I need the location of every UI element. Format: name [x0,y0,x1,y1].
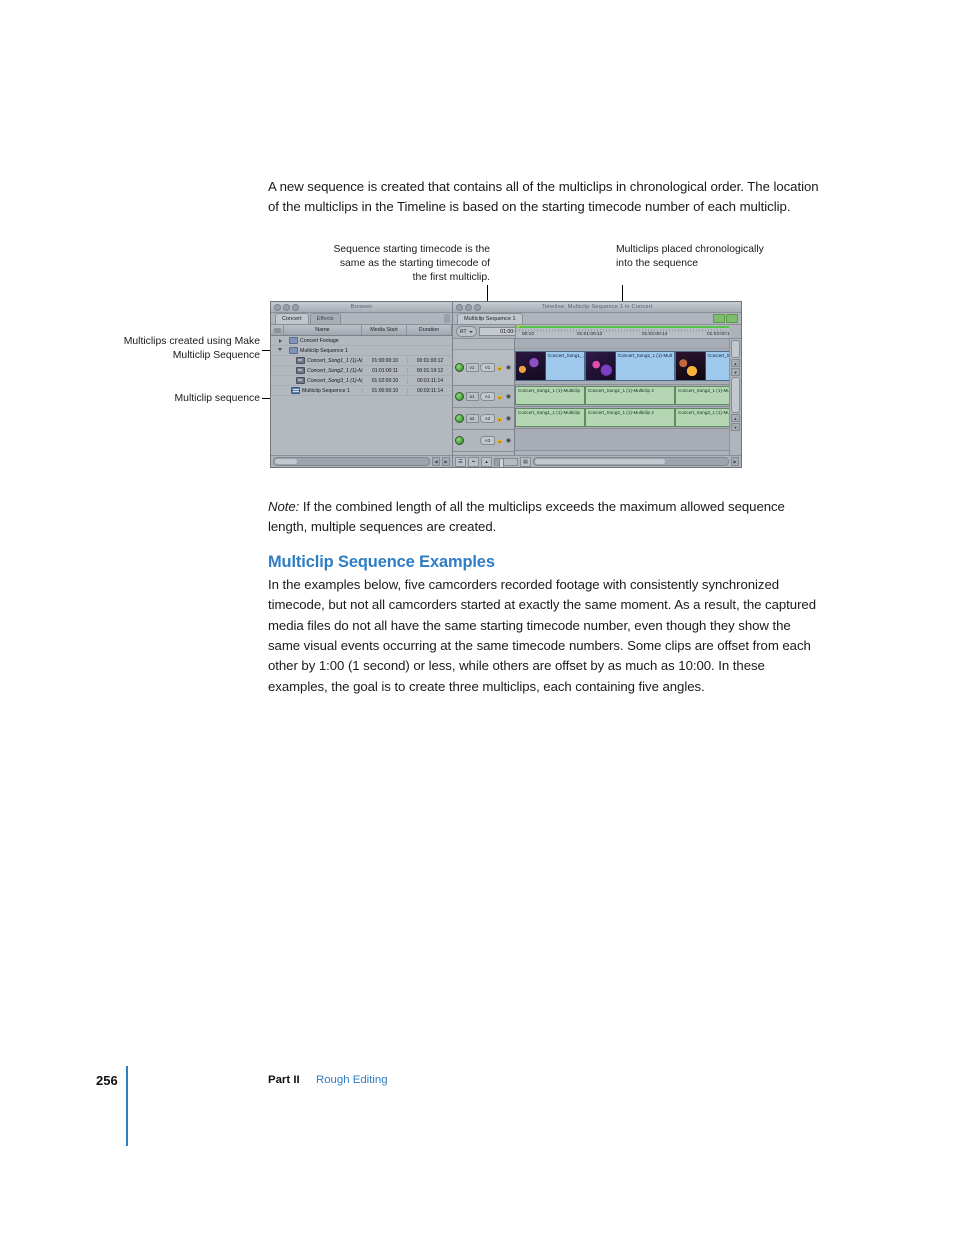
bin-icon [289,337,298,345]
track-header-spacer [453,339,514,350]
scrollbar-thumb[interactable] [731,340,740,358]
timeline-clip[interactable]: Concert_Song2_1 (1)-Mult [585,351,675,381]
table-row[interactable]: Multiclip Sequence 1 01:00:00:10 00:03:1… [271,386,452,396]
footer-rule [126,1066,128,1146]
clip-thumbnail [516,352,546,380]
visibility-icon[interactable]: ◉ [505,364,512,372]
clip-name: Concert_Song1_1 (1)-Multiclip [516,409,584,415]
browser-column-headers: Name Media Start Duration [271,325,452,336]
column-header-duration[interactable]: Duration [407,325,452,335]
tab-multiclip-sequence-1[interactable]: Multiclip Sequence 1 [457,313,523,324]
track-header-a3[interactable]: A3 🔒 ◉ [453,430,514,452]
callout-multiclip-sequence: Multiclip sequence [120,392,260,406]
note-paragraph: Note: If the combined length of all the … [268,497,824,538]
column-header-media-start[interactable]: Media Start [362,325,407,335]
track-enable-icon[interactable] [455,363,464,372]
timeline-body: v1 V1 🔒 ◉ a1 A1 🔒 ◉ a2 A2 🔒 [453,339,741,455]
clip-overlays-icon[interactable]: ▴ [481,457,492,467]
ruler-label: 01:03:00:16 [707,332,729,337]
row-media-start: 01:01:00:11 [362,368,407,374]
ruler-label: 01:01:00:12 [577,332,602,337]
clip-name: Concert_Song2_1 (1)-Mult [616,352,672,358]
render-status-icon [726,314,738,323]
track-dest-A3[interactable]: A3 [480,436,495,445]
row-name: Concert_Song2_1 (1)-Multiclip 2 [307,368,362,374]
row-name-cell: Multiclip Sequence 1 [284,347,362,355]
timeline-clip[interactable]: Concert_Song1_1 (1)-Multiclip [515,408,585,427]
lane-a3[interactable] [515,429,729,451]
track-header-a2[interactable]: a2 A2 🔒 ◉ [453,408,514,430]
row-duration: 00:03:11:14 [407,388,452,394]
timeline-render-indicators [713,314,738,323]
row-name: Concert Footage [300,338,339,344]
row-duration: 00:01:00:12 [407,358,452,364]
timeline-tracks-area[interactable]: Concert_Song1_... Concert_Song2_1 (1)-Mu… [515,339,729,455]
browser-item-list[interactable]: Concert Footage Multiclip Sequence 1 C [271,336,452,455]
timeline-clip[interactable]: Concert_Song2_1 (1)-Multiclip 2 [585,408,675,427]
disclosure-triangle[interactable] [271,339,284,343]
clip-name: Concert_Song1_1 (1)-Multiclip [516,387,584,393]
lock-icon[interactable]: 🔒 [497,437,504,445]
browser-window: Browser Concert Effects Name Media Start… [271,302,453,467]
table-row[interactable]: Concert_Song2_1 (1)-Multiclip 2 01:01:00… [271,366,452,376]
table-row[interactable]: Multiclip Sequence 1 [271,346,452,356]
row-name: Concert_Song3_1 (1)-Multiclip 3 [307,378,362,384]
timeline-tabbar: Multiclip Sequence 1 [453,313,741,325]
timeline-clip[interactable]: Concert_Song1_1 (1)-Multiclip [515,386,585,405]
track-source-a1[interactable]: a1 [466,392,479,401]
ruler-ticks [516,329,729,332]
row-name-cell: Multiclip Sequence 1 [284,387,362,395]
timeline-clip[interactable]: Concert_Son [675,351,729,381]
row-name-cell: Concert_Song3_1 (1)-Multiclip 3 [284,377,362,385]
scroll-up-arrow-icon[interactable]: ▲ [731,359,740,367]
callout-multiclips-created: Multiclips created using Make Multiclip … [120,335,260,363]
multiclip-icon [296,377,305,385]
timeline-vertical-scrollbar[interactable]: ▲ ▼ ▲ ▼ [729,339,741,455]
timeline-window-title: Timeline: Multiclip Sequence 1 in Concer… [453,304,741,310]
render-status-icon [713,314,725,323]
note-label: Note: [268,499,299,514]
note-text: If the combined length of all the multic… [268,499,785,534]
callout-sequence-timecode: Sequence starting timecode is the same a… [330,243,490,285]
timeline-window: Timeline: Multiclip Sequence 1 in Concer… [453,302,741,467]
track-source-v1[interactable]: v1 [466,363,479,372]
row-duration: 00:01:11:14 [407,378,452,384]
timeline-clip[interactable]: Concert_Song3_1 (1)-Mul [675,408,729,427]
track-header-a1[interactable]: a1 A1 🔒 ◉ [453,386,514,408]
browser-tab-scroll[interactable] [444,314,450,323]
render-bar [516,326,729,328]
chevron-down-icon [469,331,473,333]
timeline-titlebar: Timeline: Multiclip Sequence 1 in Concer… [453,302,741,313]
scrollbar-thumb[interactable] [731,377,740,413]
scrollbar-thumb[interactable] [275,459,297,464]
clip-thumbnail [676,352,706,380]
scroll-down-arrow-icon[interactable]: ▼ [731,368,740,376]
clip-name: Concert_Song1_... [546,352,584,358]
browser-titlebar: Browser [271,302,452,313]
callout-chronological: Multiclips placed chronologically into t… [616,243,766,271]
row-name: Multiclip Sequence 1 [300,348,348,354]
lock-icon[interactable]: 🔒 [497,364,504,372]
clip-name: Concert_Song2_1 (1)-Multiclip 2 [586,409,674,415]
audible-icon[interactable]: ◉ [505,415,512,423]
linked-selection-icon[interactable]: ☰ [455,457,466,467]
lock-icon[interactable]: 🔒 [497,393,504,401]
multiclip-icon [296,357,305,365]
clip-name: Concert_Song2_1 (1)-Multiclip 2 [586,387,674,393]
folder-icon [274,328,281,333]
scroll-left-arrow-icon[interactable]: ◀ [432,457,440,466]
screenshot-figure: Browser Concert Effects Name Media Start… [271,302,741,467]
scroll-right-arrow-icon[interactable]: ▶ [731,457,739,466]
lane-a1[interactable]: Concert_Song1_1 (1)-Multiclip Concert_So… [515,385,729,407]
intro-paragraph: A new sequence is created that contains … [268,177,824,218]
track-source-a2[interactable]: a2 [466,414,479,423]
multiclip-icon [296,367,305,375]
footer-section: Rough Editing [316,1074,388,1086]
audible-icon[interactable]: ◉ [505,437,512,445]
timeline-control-row: RT 01:00:00:10 00:10 01:01:00:12 01:02:0… [453,325,741,339]
track-height-icon[interactable]: ▤ [520,457,531,467]
clip-name: Concert_Song3_1 (1)-Mul [676,409,729,415]
disclosure-triangle[interactable] [271,348,284,353]
track-enable-icon[interactable] [455,436,464,445]
tab-effects[interactable]: Effects [310,313,341,324]
row-media-start: 01:02:00:10 [362,378,407,384]
lane-spacer [515,339,729,349]
row-name-cell: Concert_Song1_1 (1)-Multiclip 1 [284,357,362,365]
timeline-clip[interactable]: Concert_Song3_1 (1)-Mul [675,386,729,405]
scrollbar-thumb[interactable] [535,459,665,464]
timeline-ruler[interactable]: 00:10 01:01:00:12 01:02:00:14 01:03:00:1… [515,325,729,338]
rt-popup-label: RT [460,329,467,335]
table-row[interactable]: Concert_Song1_1 (1)-Multiclip 1 01:00:00… [271,356,452,366]
browser-window-title: Browser [271,304,452,310]
column-header-name[interactable]: Name [284,325,362,335]
zoom-slider[interactable] [494,458,518,466]
tab-concert[interactable]: Concert [275,313,309,324]
lock-icon[interactable]: 🔒 [497,415,504,423]
table-row[interactable]: Concert_Song3_1 (1)-Multiclip 3 01:02:00… [271,376,452,386]
clip-name: Concert_Son [706,352,729,358]
track-header-v1[interactable]: v1 V1 🔒 ◉ [453,350,514,386]
timeline-horizontal-scrollbar[interactable] [533,457,729,466]
timeline-bottom-bar: ☰ ━ ▴ ▤ ▶ [453,455,741,467]
scroll-right-arrow-icon[interactable]: ▶ [442,457,450,466]
playhead-icon[interactable] [517,325,521,329]
row-name-cell: Concert Footage [284,337,362,345]
track-dest-V1[interactable]: V1 [480,363,495,372]
scrollbar-track[interactable] [273,457,430,466]
snapping-icon[interactable]: ━ [468,457,479,467]
scroll-up-arrow-icon[interactable]: ▲ [731,414,740,422]
track-dest-A1[interactable]: A1 [480,392,495,401]
ruler-label: 00:10 [522,332,534,337]
row-name: Multiclip Sequence 1 [302,388,350,394]
rt-popup-button[interactable]: RT [456,326,477,337]
track-enable-icon[interactable] [455,414,464,423]
row-name-cell: Concert_Song2_1 (1)-Multiclip 2 [284,367,362,375]
ruler-label: 01:02:00:14 [642,332,667,337]
column-header-icon[interactable] [271,325,284,335]
lane-v1[interactable]: Concert_Song1_... Concert_Song2_1 (1)-Mu… [515,349,729,385]
lane-a2[interactable]: Concert_Song1_1 (1)-Multiclip Concert_So… [515,407,729,429]
clip-thumbnail [586,352,616,380]
row-media-start: 01:00:00:10 [362,358,407,364]
track-dest-A2[interactable]: A2 [480,414,495,423]
timeline-clip[interactable]: Concert_Song2_1 (1)-Multiclip 2 [585,386,675,405]
section-heading: Multiclip Sequence Examples [268,553,828,572]
browser-tabbar: Concert Effects [271,313,452,325]
row-name: Concert_Song1_1 (1)-Multiclip 1 [307,358,362,364]
track-header-column: v1 V1 🔒 ◉ a1 A1 🔒 ◉ a2 A2 🔒 [453,339,515,455]
examples-paragraph: In the examples below, five camcorders r… [268,575,824,697]
track-enable-icon[interactable] [455,392,464,401]
audible-icon[interactable]: ◉ [505,393,512,401]
table-row[interactable]: Concert Footage [271,336,452,346]
footer-part: Part II [268,1074,300,1086]
scroll-down-arrow-icon[interactable]: ▼ [731,423,740,431]
row-duration: 00:01:19:12 [407,368,452,374]
bin-icon [289,347,298,355]
page-number: 256 [96,1073,118,1088]
row-media-start: 01:00:00:10 [362,388,407,394]
timeline-clip[interactable]: Concert_Song1_... [515,351,585,381]
sequence-icon [291,387,300,395]
clip-name: Concert_Song3_1 (1)-Mul [676,387,729,393]
browser-horizontal-scrollbar[interactable]: ◀ ▶ [271,455,452,467]
